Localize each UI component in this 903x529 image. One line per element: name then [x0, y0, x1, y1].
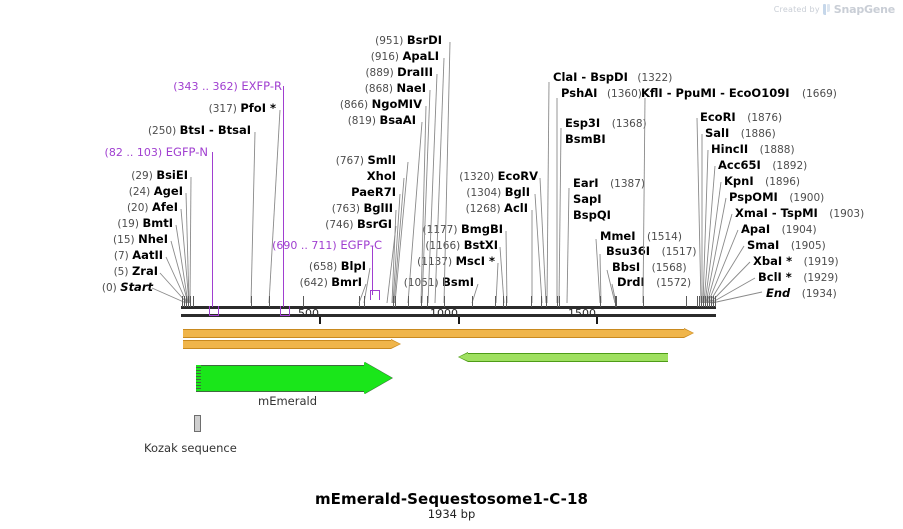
plasmid-map-canvas: Created by SnapGene (82 .. 103) EGFP-N (…: [0, 0, 903, 529]
cut-mark: [421, 296, 422, 307]
cut-mark: [190, 296, 191, 307]
cut-mark: [686, 296, 687, 307]
cut-mark: [715, 296, 716, 307]
cut-mark: [182, 296, 183, 307]
cut-mark: [393, 296, 394, 307]
arrow-body: [183, 329, 684, 338]
cut-mark: [269, 296, 270, 307]
cut-mark: [251, 296, 252, 307]
cut-mark: [705, 296, 706, 307]
feature-arrow-orange-full[interactable]: [183, 329, 694, 338]
cds-arrow-memerald[interactable]: [196, 365, 392, 392]
leader-lines: [0, 0, 903, 310]
cds-label-memerald: mEmerald: [258, 394, 317, 408]
cut-mark: [557, 296, 558, 307]
cut-mark: [186, 296, 187, 307]
arrow-head-fill: [684, 329, 693, 337]
cut-mark: [713, 296, 714, 307]
ruler-tick-500: [319, 317, 321, 324]
cut-mark: [701, 296, 702, 307]
kozak-label: Kozak sequence: [144, 441, 237, 455]
cut-mark: [184, 296, 185, 307]
arrow-body: [183, 340, 391, 349]
cut-mark: [531, 296, 532, 307]
cut-mark: [472, 296, 473, 307]
cut-mark: [506, 296, 507, 307]
cds-body: [196, 365, 366, 392]
arrow-head-fill: [459, 353, 468, 361]
cut-mark: [559, 296, 560, 307]
ruler-tick-1000: [458, 317, 460, 324]
arrow-head-fill: [391, 340, 400, 348]
cut-mark: [359, 296, 360, 307]
cut-mark: [616, 296, 617, 307]
cut-mark: [495, 296, 496, 307]
cut-mark: [427, 296, 428, 307]
cut-mark: [699, 296, 700, 307]
cut-mark: [193, 296, 194, 307]
arrow-body: [468, 353, 668, 362]
primer-line-exfp-r: [283, 86, 284, 307]
primer-line-egfp-n: [212, 152, 213, 307]
cut-mark: [408, 296, 409, 307]
ruler-label-500: 500: [298, 307, 319, 320]
cut-mark: [364, 296, 365, 307]
primer-bracket-egfp-c[interactable]: [370, 290, 380, 300]
cut-mark: [541, 296, 542, 307]
cut-mark: [444, 296, 445, 307]
cut-mark: [395, 296, 396, 307]
cut-mark: [303, 296, 304, 307]
cut-mark: [697, 296, 698, 307]
ruler-tick-1500: [596, 317, 598, 324]
primer-bracket-exfp-r[interactable]: [280, 306, 290, 316]
cut-mark: [503, 296, 504, 307]
cut-mark: [600, 296, 601, 307]
kozak-feature-mark[interactable]: [194, 415, 201, 432]
cut-mark: [188, 296, 189, 307]
primer-bracket-egfp-n[interactable]: [209, 306, 219, 316]
cds-arrow-head-right-icon: [364, 362, 392, 394]
ruler-label-1000: 1000: [430, 307, 458, 320]
page-subtitle: 1934 bp: [0, 507, 903, 521]
cut-mark: [709, 296, 710, 307]
cds-start-hatch: [196, 365, 201, 392]
ruler-label-1500: 1500: [568, 307, 596, 320]
primer-line-egfp-c: [372, 246, 373, 295]
cut-mark: [707, 296, 708, 307]
feature-arrow-green-primer[interactable]: [458, 353, 668, 362]
feature-arrow-orange-short[interactable]: [183, 340, 401, 349]
cut-mark: [546, 296, 547, 307]
cut-mark: [711, 296, 712, 307]
cut-mark: [643, 296, 644, 307]
cut-mark: [703, 296, 704, 307]
page-title: mEmerald-Sequestosome1-C-18: [0, 490, 903, 508]
